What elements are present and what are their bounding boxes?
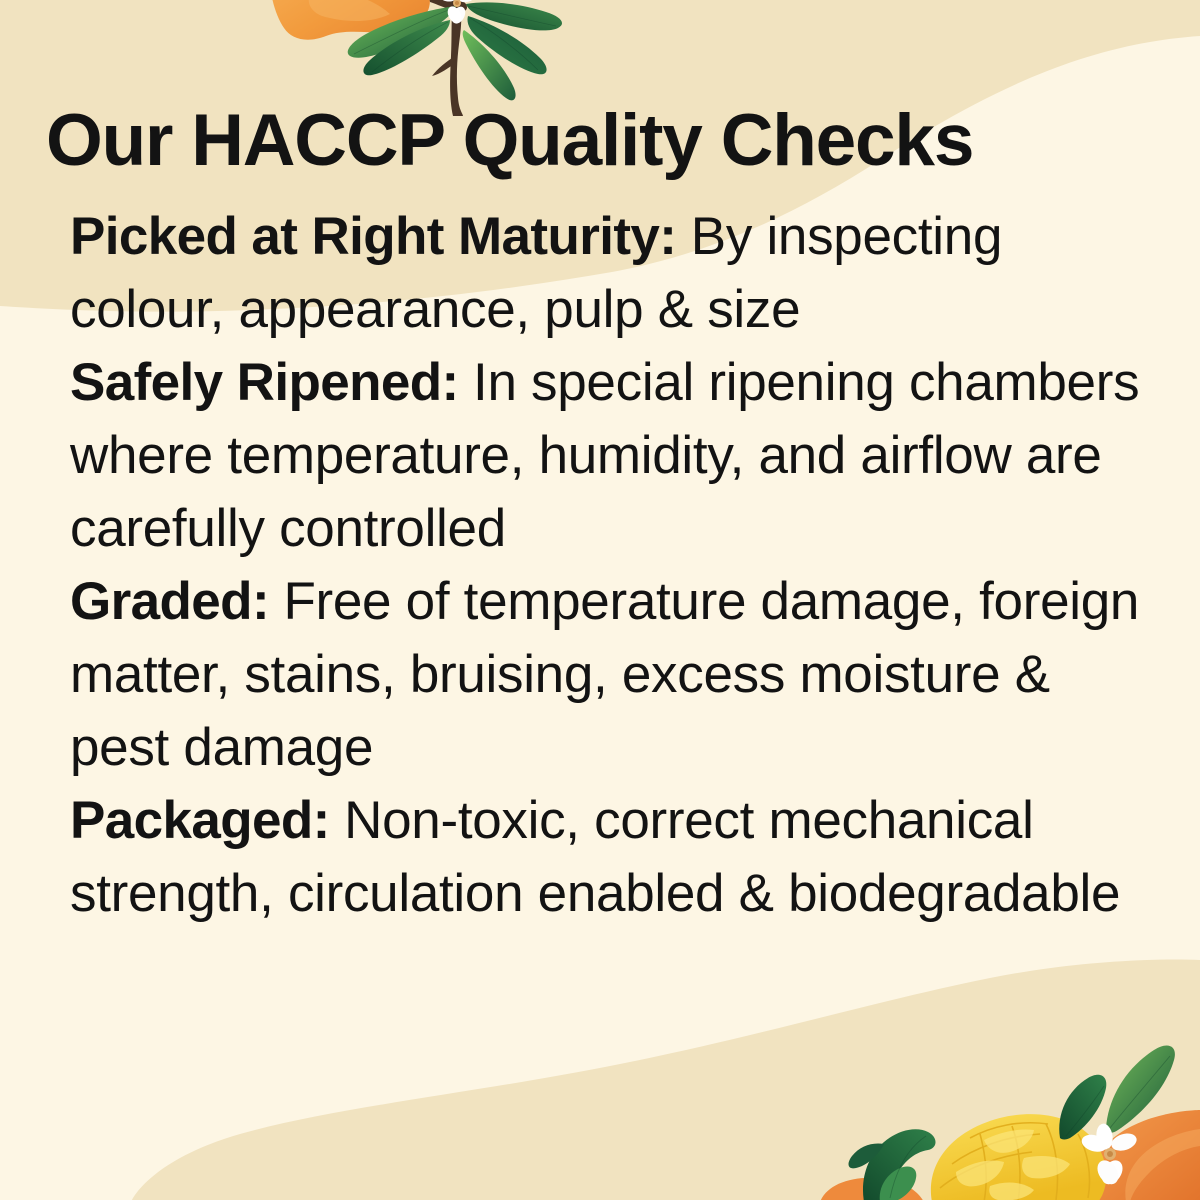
page-title: Our HACCP Quality Checks [46,104,1166,177]
list-item: Safely Ripened: In special ripening cham… [70,346,1140,565]
poster-canvas: Our HACCP Quality Checks Picked at Right… [0,0,1200,1200]
check-lead-2: Graded: [70,572,269,631]
quality-checks-list: Picked at Right Maturity: By inspecting … [70,200,1140,930]
poster-content: Our HACCP Quality Checks Picked at Right… [0,0,1200,1200]
list-item: Packaged: Non-toxic, correct mechanical … [70,784,1140,930]
check-lead-1: Safely Ripened: [70,353,459,412]
check-lead-3: Packaged: [70,791,330,850]
list-item: Picked at Right Maturity: By inspecting … [70,200,1140,346]
list-item: Graded: Free of temperature damage, fore… [70,565,1140,784]
check-lead-0: Picked at Right Maturity: [70,207,676,266]
